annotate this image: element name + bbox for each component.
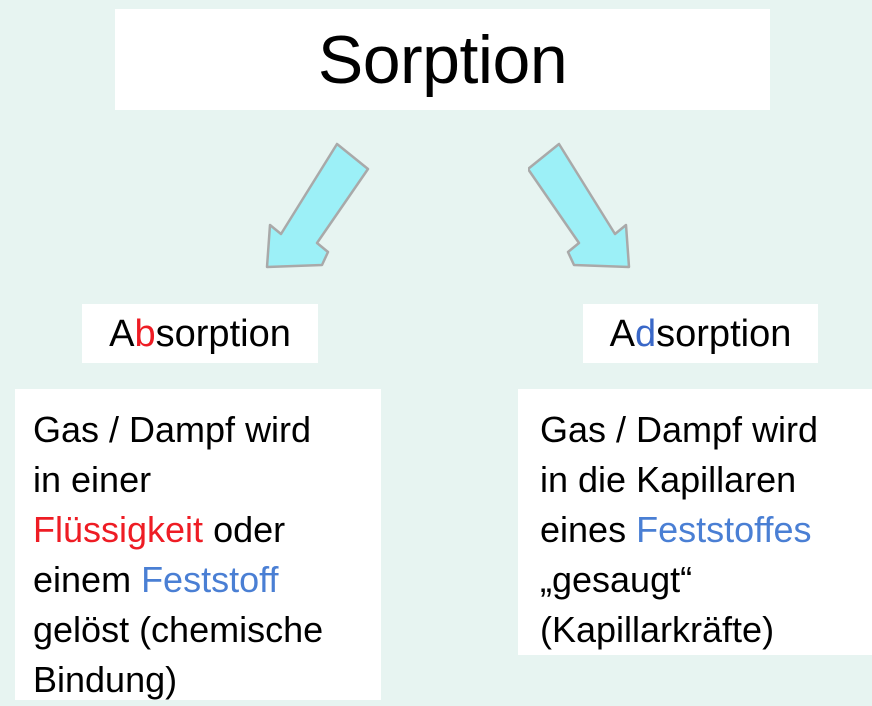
heading-adsorption-suffix: sorption — [656, 313, 791, 355]
body-run-highlight: Flüssigkeit — [33, 509, 203, 550]
body-line: Flüssigkeit oder — [33, 505, 367, 555]
slide-canvas: Sorption Absorption Adsorption Gas / Dam… — [0, 0, 872, 706]
arrow-down-left-icon — [248, 142, 398, 282]
body-run: gelöst (chemische — [33, 609, 323, 650]
title-box: Sorption — [115, 9, 770, 110]
heading-absorption: Absorption — [109, 315, 291, 353]
body-line: Gas / Dampf wird — [540, 405, 862, 455]
arrow-down-right-icon — [528, 142, 678, 282]
body-run: in die Kapillaren — [540, 459, 796, 500]
body-run: (Kapillarkräfte) — [540, 609, 774, 650]
body-run: in einer — [33, 459, 151, 500]
body-line: eines Feststoffes — [540, 505, 862, 555]
heading-adsorption-accent-letter: d — [635, 313, 656, 355]
body-run-highlight: Feststoff — [141, 559, 278, 600]
body-line: „gesaugt“ — [540, 555, 862, 605]
body-line: in die Kapillaren — [540, 455, 862, 505]
body-line: (Kapillarkräfte) — [540, 605, 862, 655]
body-line: gelöst (chemische — [33, 605, 367, 655]
body-run: einem — [33, 559, 141, 600]
heading-box-absorption: Absorption — [82, 304, 318, 363]
heading-absorption-suffix: sorption — [156, 313, 291, 355]
body-box-adsorption: Gas / Dampf wird in die Kapillaren eines… — [518, 389, 872, 655]
body-box-absorption: Gas / Dampf wird in einer Flüssigkeit od… — [15, 389, 381, 700]
body-run: Gas / Dampf wird — [33, 409, 311, 450]
heading-adsorption-prefix: A — [610, 313, 635, 355]
body-line: in einer — [33, 455, 367, 505]
body-run: Gas / Dampf wird — [540, 409, 818, 450]
page-title: Sorption — [318, 26, 567, 94]
body-run: Bindung) — [33, 659, 177, 700]
body-line: Gas / Dampf wird — [33, 405, 367, 455]
heading-absorption-prefix: A — [109, 313, 134, 355]
body-line: einem Feststoff — [33, 555, 367, 605]
body-line: Bindung) — [33, 655, 367, 705]
heading-absorption-accent-letter: b — [135, 313, 156, 355]
heading-adsorption: Adsorption — [610, 315, 792, 353]
body-run: eines — [540, 509, 636, 550]
body-run: „gesaugt“ — [540, 559, 692, 600]
body-run: oder — [203, 509, 285, 550]
heading-box-adsorption: Adsorption — [583, 304, 818, 363]
body-run-highlight: Feststoffes — [636, 509, 811, 550]
